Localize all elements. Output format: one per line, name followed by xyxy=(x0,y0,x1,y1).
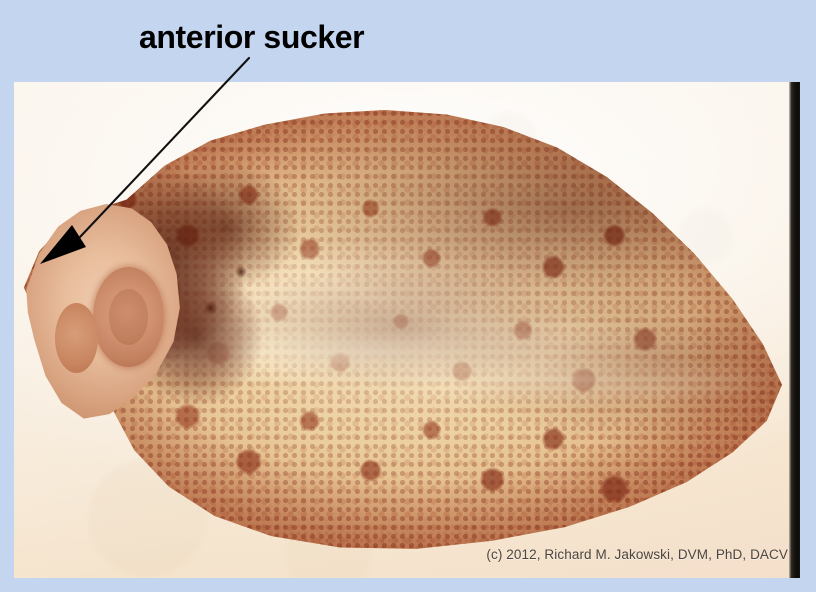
film-edge-border xyxy=(789,82,800,578)
fluke-specimen xyxy=(20,100,782,552)
sucker-cup-inner xyxy=(109,289,148,345)
sucker-cup xyxy=(93,267,163,366)
specimen-photograph: (c) 2012, Richard M. Jakowski, DVM, PhD,… xyxy=(14,82,800,578)
slide-canvas: (c) 2012, Richard M. Jakowski, DVM, PhD,… xyxy=(0,0,816,592)
annotation-label-anterior-sucker: anterior sucker xyxy=(139,21,364,53)
copyright-notice: (c) 2012, Richard M. Jakowski, DVM, PhD,… xyxy=(486,547,788,562)
